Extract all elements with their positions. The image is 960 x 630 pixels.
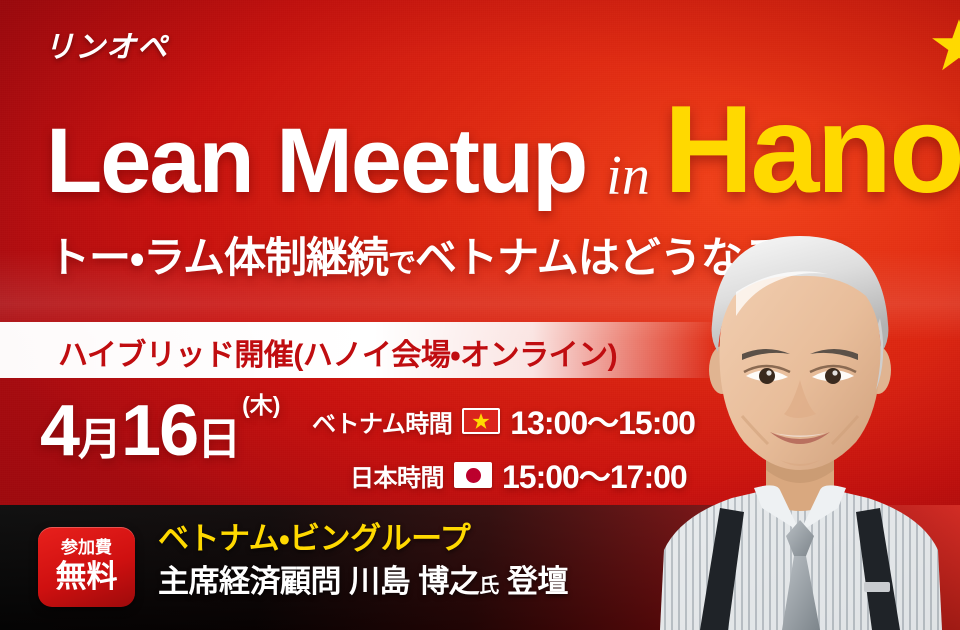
vietnam-flag-icon xyxy=(462,408,500,434)
fee-badge: 参加費 無料 xyxy=(38,527,135,607)
time-value-vietnam: 13:00〜15:00 xyxy=(510,398,695,444)
speaker-name-line: 主席経済顧問 川島 博之氏 登壇 xyxy=(158,563,568,602)
subtitle-particle: で xyxy=(388,247,415,278)
format-band-label: ハイブリッド開催(ハノイ会場・オンライン) xyxy=(58,330,617,374)
speaker-title-and-name: 主席経済顧問 川島 博之 xyxy=(158,564,479,599)
title-main-text: Lean Meetup xyxy=(46,115,586,207)
fee-badge-top-label: 参加費 xyxy=(61,539,112,558)
poster-title: Lean Meetup in Hanoi xyxy=(46,88,940,212)
event-times: ベトナム時間 13:00〜15:00 日本時間 15:00〜17:00 xyxy=(312,398,695,498)
date-day-number: 16 xyxy=(121,398,197,464)
date-day-unit: 日 xyxy=(197,418,240,462)
time-label-vietnam: ベトナム時間 xyxy=(312,404,452,439)
poster-subtitle: トー・ラム体制継続でベトナムはどうなるか? xyxy=(48,224,848,285)
date-month-number: 4 xyxy=(40,398,78,464)
time-row-vietnam: ベトナム時間 13:00〜15:00 xyxy=(312,398,695,444)
title-city-label: Hanoi xyxy=(664,81,960,219)
date-month-unit: 月 xyxy=(78,418,121,462)
japan-flag-disc xyxy=(466,468,481,483)
subtitle-part-1: トー・ラム体制継続 xyxy=(48,234,388,281)
brand-logo: リンオペ xyxy=(44,22,168,66)
subtitle-part-2: ベトナムはどうなるか? xyxy=(415,234,848,281)
title-city-text: Hanoi xyxy=(664,88,960,212)
time-value-japan: 15:00〜17:00 xyxy=(502,452,687,498)
time-row-japan: 日本時間 15:00〜17:00 xyxy=(312,452,695,498)
time-label-japan: 日本時間 xyxy=(350,458,444,493)
event-date: 4 月 16 日 (木) xyxy=(40,398,278,464)
speaker-info: ベトナム・ビングループ 主席経済顧問 川島 博之氏 登壇 xyxy=(158,520,568,602)
title-connector-text: in xyxy=(606,144,650,208)
date-day-of-week: (木) xyxy=(242,386,280,420)
speaker-honorific: 氏 xyxy=(479,575,499,597)
speaker-organization: ベトナム・ビングループ xyxy=(158,520,568,559)
event-poster: リンオペ Lean Meetup in Hanoi トー・ラム体制継続でベトナム… xyxy=(0,0,960,630)
speaker-appearance-label: 登壇 xyxy=(499,564,568,599)
fee-badge-main-label: 無料 xyxy=(56,559,118,595)
japan-flag-icon xyxy=(454,462,492,488)
